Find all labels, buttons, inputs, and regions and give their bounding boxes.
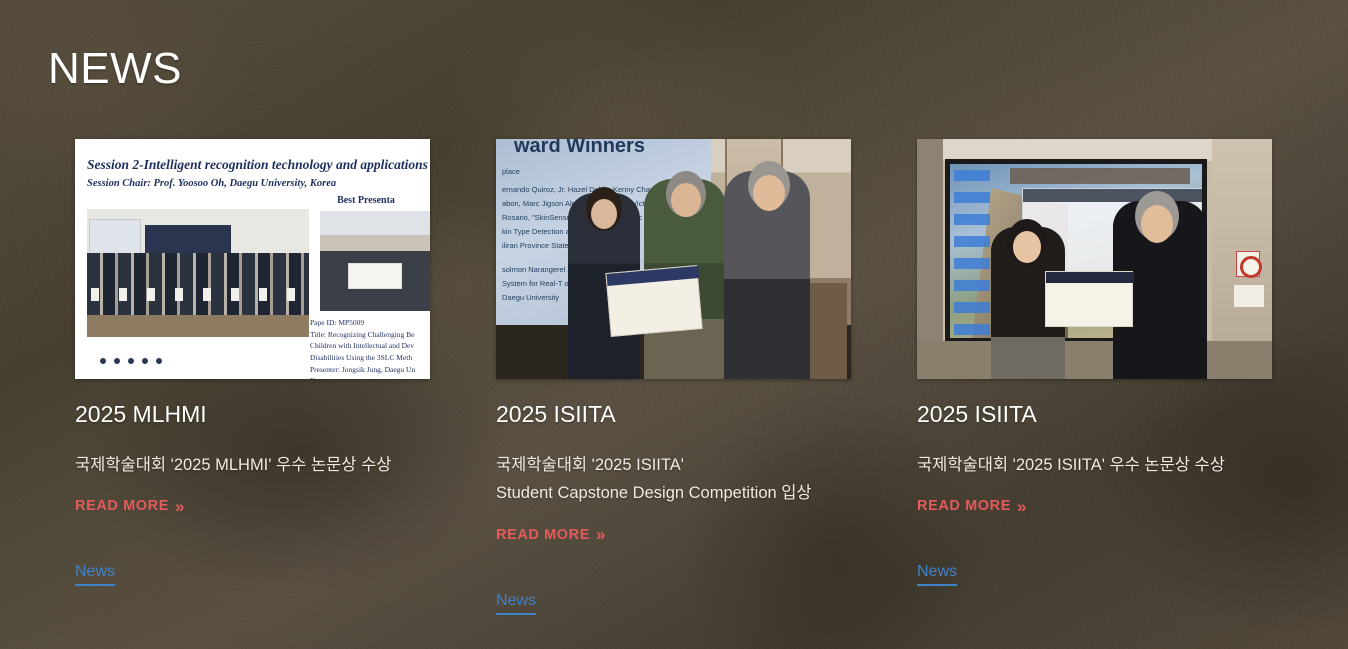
news-card-list: Session 2-Intelligent recognition techno… xyxy=(75,139,1275,615)
slide-detail-line: Title: Recognizing Challenging Be xyxy=(310,329,428,341)
slide-detail-line: Children with Intellectual and Dev xyxy=(310,340,428,352)
news-card-image[interactable]: Session 2-Intelligent recognition techno… xyxy=(75,139,430,379)
news-card-body: 2025 ISIITA 국제학술대회 '2025 ISIITA' 우수 논문상 … xyxy=(917,379,1272,586)
projected-slide-heading: ward Winners xyxy=(514,139,645,158)
slide-detail-line: Presenter: Jongsik Jung, Daegu Un xyxy=(310,364,428,376)
award-ceremony-photo-projector xyxy=(917,139,1272,379)
news-card-image[interactable] xyxy=(917,139,1272,379)
projector-desktop-icons xyxy=(954,170,990,343)
slide-projector-screen xyxy=(89,219,141,257)
news-card-body: 2025 MLHMI 국제학술대회 '2025 MLHMI' 우수 논문상 수상… xyxy=(75,379,430,586)
photo-award-certificate xyxy=(605,265,702,337)
carousel-dot[interactable] xyxy=(100,358,106,364)
slide-detail-line: Korea xyxy=(310,375,428,379)
photo-person-face xyxy=(591,199,617,229)
slide-people-row xyxy=(87,253,309,315)
slide-award-label: Best Presenta xyxy=(306,195,426,206)
projected-slide-line: place xyxy=(502,167,520,176)
read-more-label: READ MORE xyxy=(75,498,169,514)
no-smoking-sign-icon xyxy=(1236,251,1260,277)
double-chevron-right-icon: » xyxy=(1017,498,1024,515)
read-more-link[interactable]: READ MORE » xyxy=(917,498,1024,515)
carousel-dot[interactable] xyxy=(128,358,134,364)
category-tag-link[interactable]: News xyxy=(917,562,957,586)
news-card-description: 국제학술대회 '2025 ISIITA' Student Capstone De… xyxy=(496,451,851,508)
conference-slide-screenshot: Session 2-Intelligent recognition techno… xyxy=(75,139,430,379)
projected-slide-line: Daegu University xyxy=(502,293,559,302)
double-chevron-right-icon: » xyxy=(175,498,182,515)
wall-notice-paper xyxy=(1234,285,1264,307)
slide-award-certificate xyxy=(348,263,402,289)
news-card-title: 2025 MLHMI xyxy=(75,401,430,429)
news-card-description: 국제학술대회 '2025 MLHMI' 우수 논문상 수상 xyxy=(75,451,430,479)
news-card[interactable]: ward Winners place ernando Quiroz, Jr. H… xyxy=(496,139,851,615)
read-more-label: READ MORE xyxy=(496,527,590,543)
double-chevron-right-icon: » xyxy=(596,526,603,543)
photo-person xyxy=(724,171,810,379)
news-card-tag-wrap: News xyxy=(917,562,1272,586)
projector-toolbar xyxy=(1010,168,1190,184)
category-tag-link[interactable]: News xyxy=(75,562,115,586)
news-card-description-line: 국제학술대회 '2025 MLHMI' 우수 논문상 수상 xyxy=(75,451,430,479)
award-ceremony-photo: ward Winners place ernando Quiroz, Jr. H… xyxy=(496,139,851,379)
news-card-image[interactable]: ward Winners place ernando Quiroz, Jr. H… xyxy=(496,139,851,379)
slide-certificates xyxy=(87,288,309,301)
carousel-dot[interactable] xyxy=(156,358,162,364)
news-card[interactable]: 2025 ISIITA 국제학술대회 '2025 ISIITA' 우수 논문상 … xyxy=(917,139,1272,615)
news-card-body: 2025 ISIITA 국제학술대회 '2025 ISIITA' Student… xyxy=(496,379,851,615)
slide-detail-text: Pape ID: MP5009 Title: Recognizing Chall… xyxy=(310,317,428,379)
carousel-dots[interactable] xyxy=(100,358,162,364)
news-card-title: 2025 ISIITA xyxy=(917,401,1272,429)
category-tag-link[interactable]: News xyxy=(496,591,536,615)
photo-award-certificate xyxy=(1045,271,1133,327)
photo-floor xyxy=(917,341,1272,379)
news-card-description: 국제학술대회 '2025 ISIITA' 우수 논문상 수상 xyxy=(917,451,1272,479)
photo-person-face xyxy=(1013,231,1041,263)
read-more-link[interactable]: READ MORE » xyxy=(496,526,603,543)
news-card-description-line: 국제학술대회 '2025 ISIITA' 우수 논문상 수상 xyxy=(917,451,1272,479)
news-card-description-line: Student Capstone Design Competition 입상 xyxy=(496,479,851,507)
photo-person-face xyxy=(671,183,701,217)
news-card-description-line: 국제학술대회 '2025 ISIITA' xyxy=(496,451,851,479)
slide-subheading: Session Chair: Prof. Yoosoo Oh, Daegu Un… xyxy=(87,178,430,189)
slide-detail-line: Pape ID: MP5009 xyxy=(310,317,428,329)
photo-person-face xyxy=(1141,205,1173,243)
news-card-tag-wrap: News xyxy=(75,562,430,586)
slide-heading: Session 2-Intelligent recognition techno… xyxy=(87,157,430,173)
projected-slide-line: ernando Quiroz, Jr. Hazel Delda, Kenny C… xyxy=(502,185,662,194)
news-card-title: 2025 ISIITA xyxy=(496,401,851,429)
slide-award-photo xyxy=(320,211,430,311)
slide-group-photo xyxy=(87,209,309,337)
slide-blackboard xyxy=(145,225,231,255)
read-more-label: READ MORE xyxy=(917,498,1011,514)
slide-desk xyxy=(87,315,309,337)
carousel-dot[interactable] xyxy=(114,358,120,364)
photo-person-face xyxy=(753,175,785,211)
news-card[interactable]: Session 2-Intelligent recognition techno… xyxy=(75,139,430,615)
read-more-link[interactable]: READ MORE » xyxy=(75,498,182,515)
photo-person-skirt xyxy=(991,337,1065,379)
news-card-tag-wrap: News xyxy=(496,591,851,615)
slide-detail-line: Disabilities Using the 3SLC Meth xyxy=(310,352,428,364)
news-section: NEWS Session 2-Intelligent recognition t… xyxy=(0,0,1348,649)
projected-slide-line: System for Real-T ow, xyxy=(502,279,576,288)
carousel-dot[interactable] xyxy=(142,358,148,364)
page-title: NEWS xyxy=(48,44,182,94)
